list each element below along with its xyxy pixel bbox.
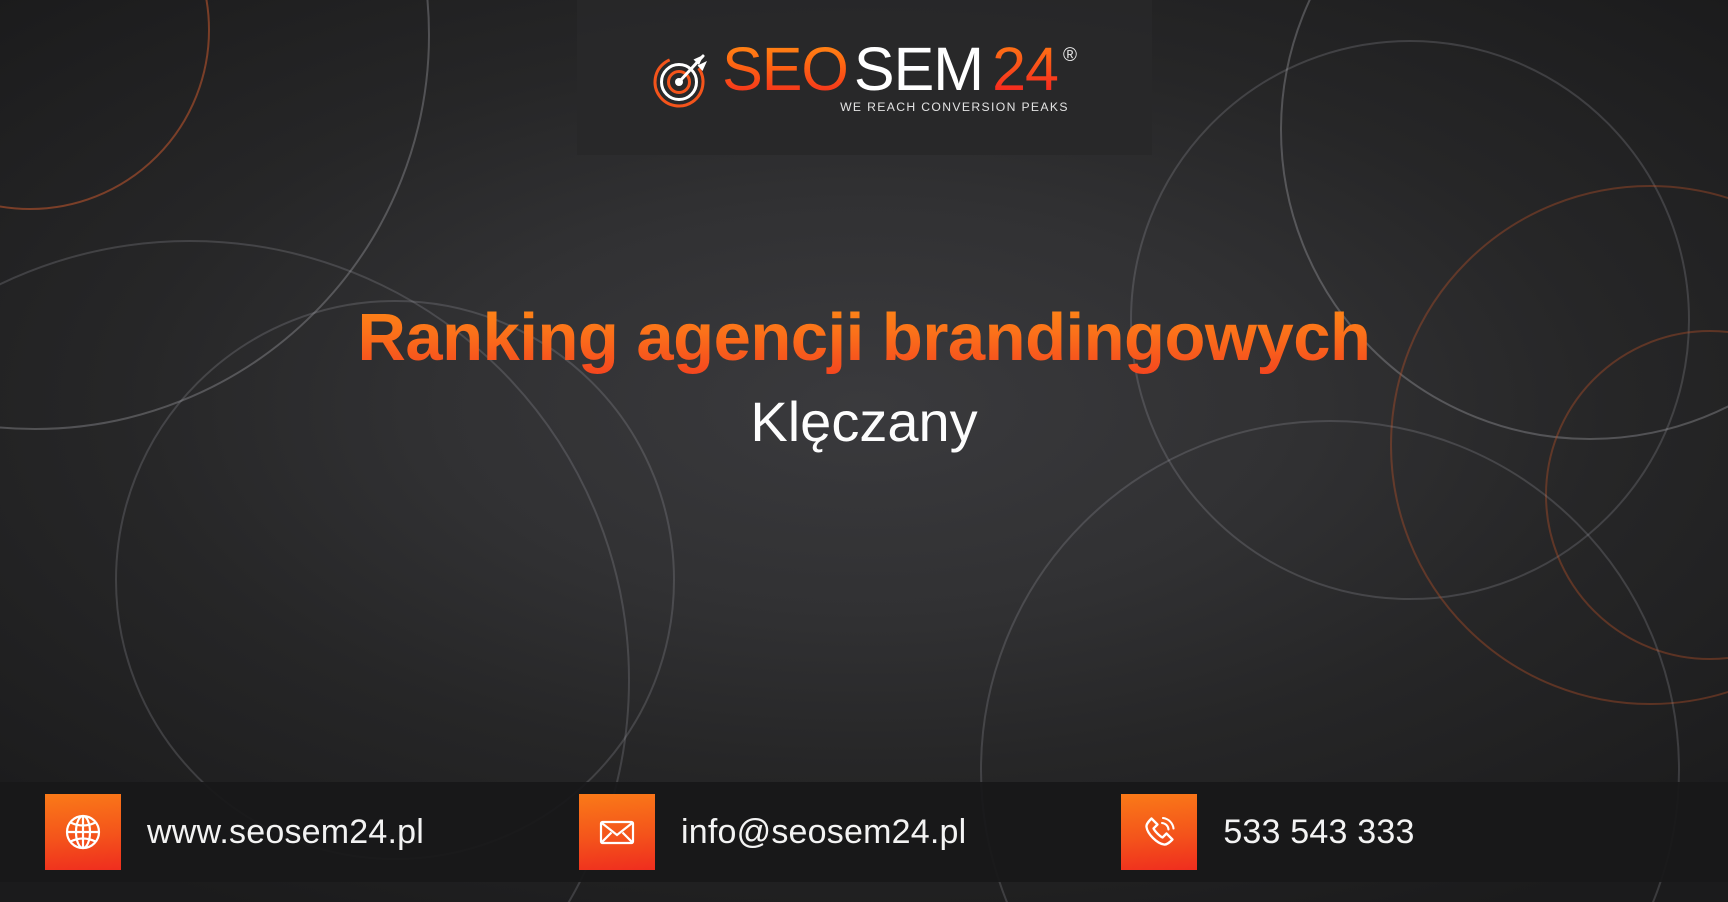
hero-section: Ranking agencji brandingowych Klęczany xyxy=(0,300,1728,453)
contact-website[interactable]: www.seosem24.pl xyxy=(45,794,424,870)
poster-canvas: SEO SEM 24 ® WE REACH CONVERSION PEAKS R… xyxy=(0,0,1728,902)
globe-icon xyxy=(45,794,121,870)
page-subtitle: Klęczany xyxy=(750,391,977,453)
brand-tagline: WE REACH CONVERSION PEAKS xyxy=(840,100,1077,114)
phone-icon xyxy=(1121,794,1197,870)
brand-logo-plate: SEO SEM 24 ® WE REACH CONVERSION PEAKS xyxy=(577,0,1152,155)
website-label: www.seosem24.pl xyxy=(147,813,424,852)
logo-text-sem: SEM xyxy=(854,41,983,99)
contact-phone[interactable]: 533 543 333 xyxy=(1121,794,1414,870)
phone-label: 533 543 333 xyxy=(1223,813,1414,852)
email-label: info@seosem24.pl xyxy=(681,813,966,852)
logo-text-seo: SEO xyxy=(722,41,848,99)
registered-trademark-icon: ® xyxy=(1063,45,1077,67)
target-dart-icon xyxy=(652,49,712,109)
contact-email[interactable]: info@seosem24.pl xyxy=(579,794,966,870)
page-title: Ranking agencji brandingowych xyxy=(358,300,1371,375)
background-circle-decoration xyxy=(0,0,210,210)
envelope-icon xyxy=(579,794,655,870)
contact-footer-bar: www.seosem24.pl info@seosem24.pl 533 xyxy=(0,782,1728,882)
brand-logo: SEO SEM 24 ® WE REACH CONVERSION PEAKS xyxy=(652,41,1077,114)
logo-text-24: 24 xyxy=(992,41,1058,99)
